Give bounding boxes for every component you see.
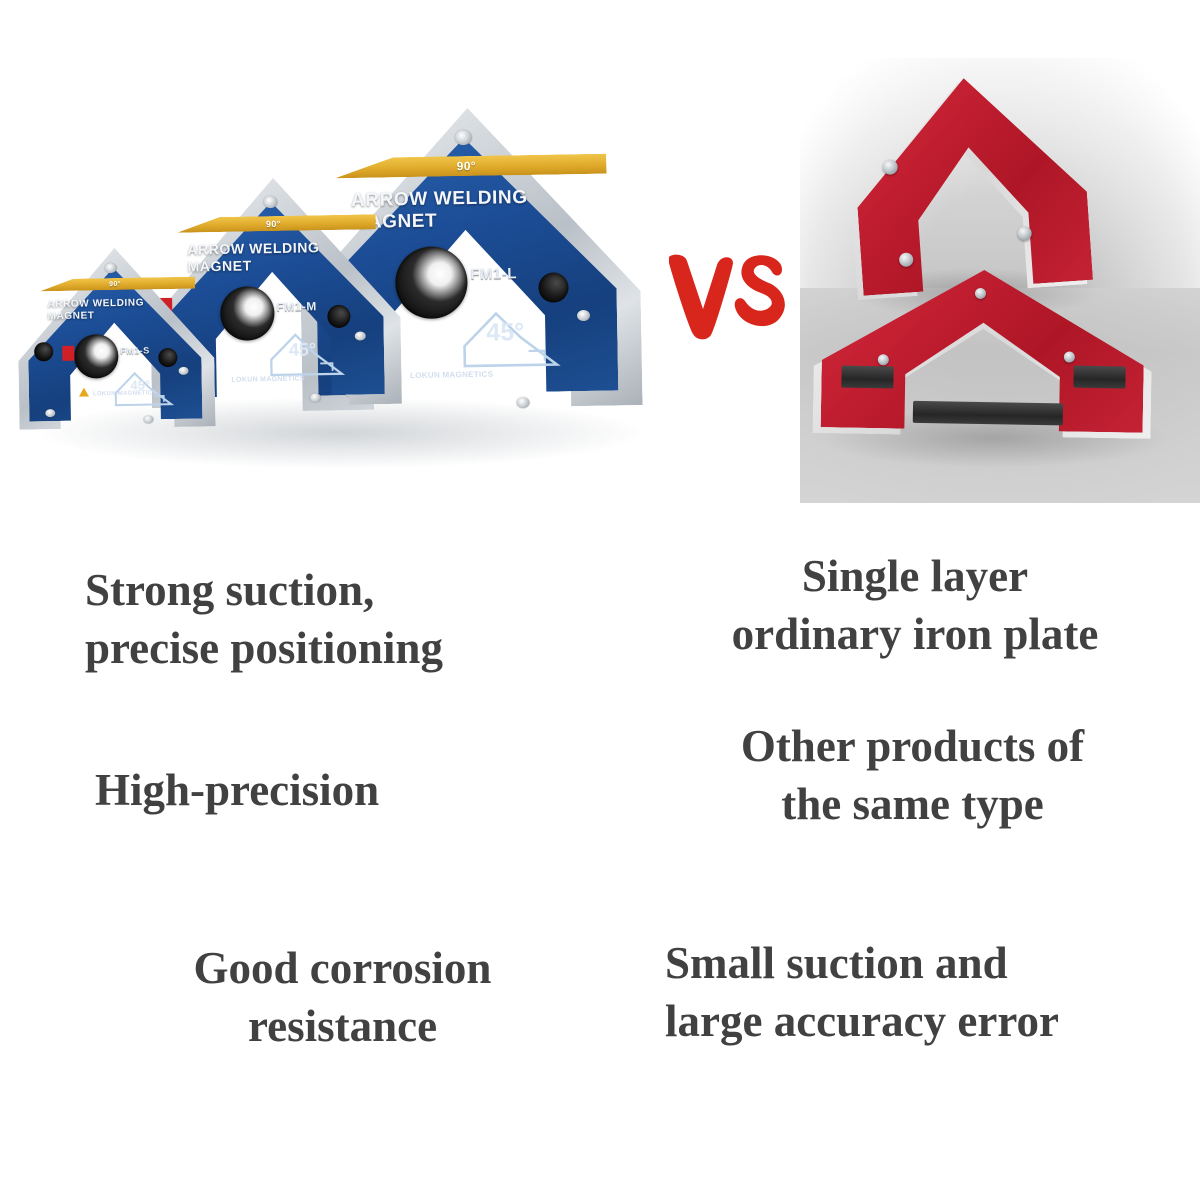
drawback-right-1-line1: Single layer <box>660 548 1170 606</box>
benefit-left-3: Good corrosion resistance <box>95 940 590 1055</box>
magnet-large-angle-band: 90° <box>326 154 606 179</box>
magnet-small-screw-bottom <box>143 415 153 423</box>
red-magnet-lower-magnet-strip-center <box>913 401 1063 426</box>
magnet-large-model: FM1-L <box>470 265 517 283</box>
benefit-left-1-line2: precise positioning <box>85 620 605 678</box>
red-magnet-lower <box>821 267 1146 433</box>
vs-icon <box>663 243 793 343</box>
red-magnet-upper <box>849 70 1093 296</box>
magnet-large-angle-value: 45° <box>486 318 524 348</box>
magnet-small-model: FM1-S <box>120 345 150 356</box>
magnet-large-screw-bottom <box>516 397 529 408</box>
magnet-small-angle-band: 90° <box>35 277 195 292</box>
magnet-medium-angle-value: 45° <box>289 339 317 360</box>
drawback-right-1-line2: ordinary iron plate <box>660 606 1170 664</box>
magnet-medium-angle-band: 90° <box>171 214 376 233</box>
drawback-right-2-line2: the same type <box>660 776 1165 834</box>
magnet-medium-screw-bottom <box>310 393 321 402</box>
drawback-right-1: Single layer ordinary iron plate <box>660 548 1170 663</box>
drawback-right-3: Small suction and large accuracy error <box>665 935 1185 1050</box>
drawback-right-3-line2: large accuracy error <box>665 993 1185 1051</box>
red-magnet-lower-magnet-strip-right <box>1073 366 1125 389</box>
magnet-small-logo-mark <box>62 346 74 361</box>
red-magnet-lower-magnet-strip-left <box>841 366 893 389</box>
magnet-large-angle-icon: 45° <box>456 296 567 374</box>
vs-divider <box>663 243 793 343</box>
left-product-photo: 90° ARROW WELDING MAGNET FM1-L 45° LOKUN… <box>0 0 660 510</box>
benefit-left-3-line2: resistance <box>95 998 590 1056</box>
right-product-photo <box>800 58 1200 503</box>
magnet-small-angle-value: 45° <box>130 377 150 392</box>
magnet-large-brand: LOKUN MAGNETICS <box>410 370 493 380</box>
magnet-small-title-line2: MAGNET <box>48 309 173 323</box>
drawback-right-3-line1: Small suction and <box>665 935 1185 993</box>
magnet-small: 90° ARROW WELDING MAGNET FM1-S 45° LOKUN… <box>16 246 215 429</box>
magnet-medium-brand: LOKUN MAGNETICS <box>231 375 304 383</box>
benefit-left-3-line1: Good corrosion <box>95 940 590 998</box>
benefit-left-1-line1: Strong suction, <box>85 562 605 620</box>
magnet-small-angle-icon: 45° <box>110 363 177 410</box>
magnet-medium-model: FM1-M <box>276 299 317 314</box>
magnet-small-warning-icon <box>79 387 89 396</box>
red-magnet-upper-face <box>849 70 1093 296</box>
benefit-left-2-line1: High-precision <box>95 762 595 820</box>
drawback-right-2-line1: Other products of <box>660 718 1165 776</box>
product-comparison-photo-band: 90° ARROW WELDING MAGNET FM1-L 45° LOKUN… <box>0 0 1200 510</box>
drawback-right-2: Other products of the same type <box>660 718 1165 833</box>
benefit-left-1: Strong suction, precise positioning <box>85 562 605 677</box>
magnet-medium-angle-icon: 45° <box>265 322 350 381</box>
benefit-left-2: High-precision <box>95 762 595 820</box>
magnet-small-title: ARROW WELDING MAGNET <box>47 297 172 323</box>
